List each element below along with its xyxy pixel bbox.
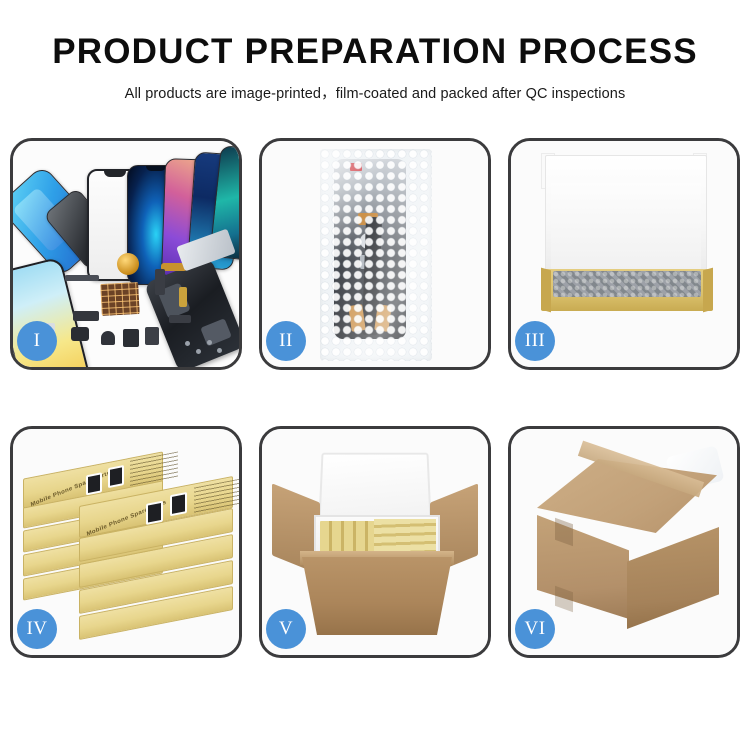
step-badge-2: II	[266, 321, 306, 361]
camera-module-icon	[73, 311, 99, 321]
bubble-bag-icon	[320, 149, 432, 361]
step-badge-1: I	[17, 321, 57, 361]
process-step-1: I	[10, 138, 242, 370]
process-step-3: III	[508, 138, 740, 370]
box-print-screen-icon	[146, 501, 163, 525]
process-step-6: VI	[508, 426, 740, 658]
process-step-4: Mobile Phone Spare Parts Mobile Phone Sp…	[10, 426, 242, 658]
chip-array-icon	[100, 282, 140, 316]
box-print-text-lines-icon	[130, 451, 178, 486]
carton-front-face-icon	[537, 515, 629, 619]
speaker-module-icon	[117, 253, 139, 275]
plastic-sheen-icon	[320, 149, 432, 361]
kraft-box-tray-icon	[541, 269, 713, 311]
step-badge-4: IV	[17, 609, 57, 649]
header: PRODUCT PREPARATION PROCESS All products…	[0, 0, 750, 103]
flex-cable-icon	[65, 275, 99, 281]
process-step-grid: I II	[10, 138, 740, 658]
step-badge-5: V	[266, 609, 306, 649]
page-title: PRODUCT PREPARATION PROCESS	[0, 34, 750, 71]
tray-edge-right-icon	[703, 268, 713, 313]
vibrator-motor-icon	[71, 327, 89, 341]
carton-side-face-icon	[627, 527, 719, 629]
screws-icon	[185, 339, 225, 357]
antenna-cable-icon	[169, 315, 191, 323]
process-step-5: V	[259, 426, 491, 658]
ribbon-cable-icon	[155, 269, 165, 295]
box-print-screen-icon	[170, 492, 187, 516]
carton-body-icon	[302, 557, 452, 635]
sim-tray-icon	[145, 327, 159, 345]
charging-port-icon	[123, 329, 139, 347]
step-badge-3: III	[515, 321, 555, 361]
foam-liner-icon	[551, 183, 701, 269]
product-preparation-infographic: PRODUCT PREPARATION PROCESS All products…	[0, 0, 750, 750]
power-button-flex-icon	[179, 287, 187, 307]
box-print-screen-icon	[86, 472, 102, 495]
box-print-screen-icon	[108, 465, 124, 488]
page-subtitle: All products are image-printed，film-coat…	[0, 82, 750, 103]
earpiece-icon	[101, 331, 115, 345]
process-step-2: II	[259, 138, 491, 370]
tray-edge-left-icon	[541, 268, 551, 313]
step-badge-6: VI	[515, 609, 555, 649]
foam-lid-icon	[318, 453, 431, 523]
bubble-wrapped-screen-icon	[553, 271, 701, 297]
